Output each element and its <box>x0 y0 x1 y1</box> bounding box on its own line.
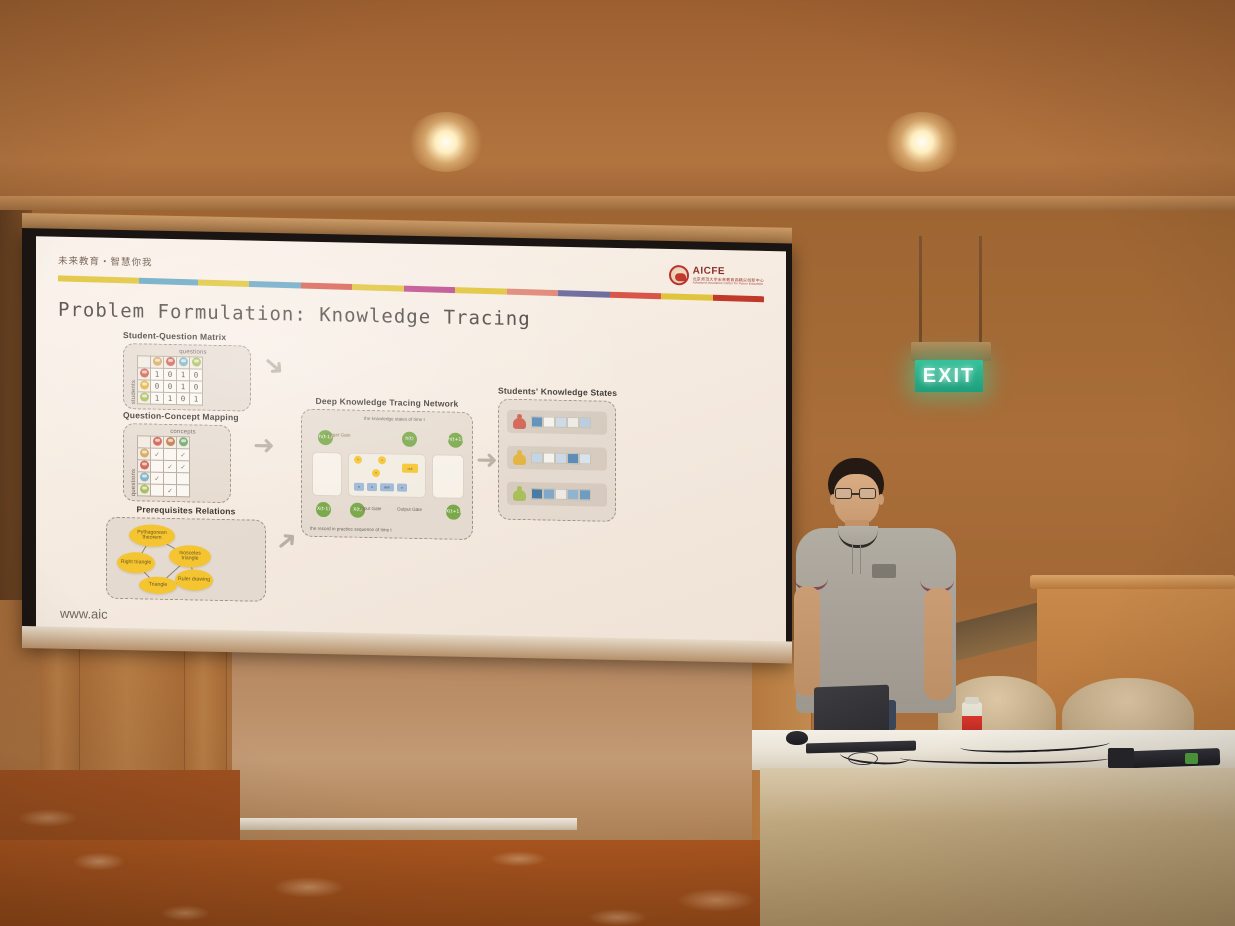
question-concept-mapping-table: ✓✓✓✓✓✓ <box>137 435 190 497</box>
presenter-glasses-bridge <box>851 493 860 495</box>
question-avatar-3-icon <box>192 357 201 366</box>
question-avatar-0-icon <box>153 356 162 365</box>
exit-rope-right <box>979 236 982 354</box>
table-row: 1010 <box>138 367 203 380</box>
knowledge-state-row-1 <box>507 446 607 471</box>
sq-cell-2-2: 0 <box>177 392 190 404</box>
concept-avatar-2 <box>177 436 190 448</box>
question-avatar-1-icon <box>166 356 175 365</box>
student-avatar-2 <box>138 391 151 403</box>
dkt-input-gate-node: + <box>378 456 386 464</box>
question-concept-mapping-panel: Question-Concept Mapping concepts questi… <box>123 410 239 503</box>
presenter-arm-right <box>924 588 952 700</box>
presenter-shirt-badge <box>872 564 896 578</box>
slide-watermark: www.aic <box>60 606 108 622</box>
color-strip-segment-1 <box>139 278 198 286</box>
logo-subtitle-en: Advanced Innovation Center for Future Ed… <box>693 281 764 285</box>
arrow-sq-to-network: ➜ <box>257 349 290 383</box>
color-strip-segment-5 <box>352 284 404 292</box>
sq-cell-0-1: 0 <box>164 368 177 380</box>
color-strip-segment-2 <box>198 279 250 287</box>
sq-cell-2-0: 1 <box>151 392 164 404</box>
qc-cell-3-1: ✓ <box>164 484 177 496</box>
arrow-network-to-states: ➜ <box>476 447 498 473</box>
qc-cell-0-2: ✓ <box>177 448 190 460</box>
qc-question-avatar-3-icon <box>140 484 149 493</box>
color-strip-segment-4 <box>301 283 353 291</box>
podium-top-surface <box>1030 575 1235 589</box>
slide-diagram: Student-Question Matrix questions studen… <box>58 329 764 623</box>
knowledge-cell-2-3 <box>567 489 579 500</box>
aicfe-logo-text: AICFE 北京师范大学未来教育高精尖创新中心 Advanced Innovat… <box>693 266 764 285</box>
prereq-node-1: Isosceles triangle <box>169 545 211 568</box>
dkt-output-gate-label: Output Gate <box>397 507 422 513</box>
question-concept-mapping-box: concepts questions ✓✓✓✓✓✓ <box>123 423 231 503</box>
corner-cell <box>138 355 151 367</box>
sq-cell-0-0: 1 <box>151 368 164 380</box>
color-strip-segment-11 <box>661 293 713 301</box>
avatar-body <box>513 418 526 429</box>
exit-sign-label: EXIT <box>923 365 975 388</box>
knowledge-cell-2-1 <box>543 488 555 499</box>
knowledge-cell-1-1 <box>543 452 555 463</box>
knowledge-cell-0-4 <box>579 417 591 428</box>
dkt-tanh-gate: × <box>372 469 380 477</box>
power-strip-indicator <box>1185 753 1198 764</box>
dkt-network-label: Deep Knowledge Tracing Network <box>301 396 473 409</box>
qc-question-avatar-1 <box>138 459 151 471</box>
knowledge-state-bar-1 <box>531 452 591 464</box>
exit-rope-left <box>919 236 922 354</box>
knowledge-cell-2-2 <box>555 489 567 500</box>
prereq-node-0: Pythagorean theorem <box>129 524 175 547</box>
qc-cell-0-1 <box>164 448 177 460</box>
slide-slogan: 未来教育・智慧你我 <box>58 253 153 269</box>
sq-cell-0-2: 1 <box>177 368 190 380</box>
color-strip-segment-12 <box>713 295 765 303</box>
concept-avatar-1 <box>164 436 177 448</box>
presenter-arm-left <box>794 586 820 696</box>
dkt-top-caption: the knowledge states of time t <box>364 416 425 422</box>
exit-sign: EXIT <box>915 360 983 392</box>
color-strip-segment-6 <box>404 286 456 294</box>
knowledge-states-box <box>498 399 616 522</box>
aicfe-logo: AICFE 北京师范大学未来教育高精尖创新中心 Advanced Innovat… <box>669 265 764 287</box>
cable-2 <box>900 752 1110 764</box>
ceiling-light-1 <box>408 112 484 172</box>
qc-cell-1-0 <box>151 460 164 472</box>
qc-question-avatar-2-icon <box>140 472 149 481</box>
presenter-placket <box>852 544 861 574</box>
student-question-matrix-table: 101000101101 <box>137 355 203 405</box>
concept-avatar-1-icon <box>166 436 175 445</box>
presenter-glasses-left <box>835 488 852 499</box>
knowledge-state-bar-2 <box>531 488 591 500</box>
qc-question-avatar-0-icon <box>140 448 149 457</box>
knowledge-state-row-0 <box>507 410 607 435</box>
question-avatar-1 <box>164 356 177 368</box>
ceiling <box>0 0 1235 215</box>
knowledge-state-row-2 <box>507 482 607 507</box>
color-strip-segment-10 <box>610 292 662 300</box>
knowledge-cell-0-0 <box>531 416 543 427</box>
question-avatar-3 <box>190 356 203 368</box>
knowledge-states-label: Students' Knowledge States <box>498 386 617 398</box>
dkt-network-box: the knowledge states of time t the recor… <box>301 409 473 540</box>
exit-mount-bracket <box>911 342 991 361</box>
dkt-unit-0: σ <box>354 483 364 491</box>
knowledge-cell-1-2 <box>555 453 567 464</box>
dkt-cell-left <box>312 452 342 497</box>
dkt-unit-3: σ <box>397 484 407 492</box>
color-strip-segment-3 <box>249 281 301 289</box>
dkt-output-gate-node: out <box>402 464 418 473</box>
dkt-input-node-0: X(t-1) <box>316 502 331 517</box>
dkt-cell-right <box>432 454 464 499</box>
knowledge-cell-1-0 <box>531 452 543 463</box>
student-avatar-icon-0 <box>513 414 526 429</box>
color-strip-segment-7 <box>455 287 507 295</box>
sq-cell-1-2: 1 <box>177 380 190 392</box>
prereq-node-2: Right triangle <box>117 552 155 574</box>
prerequisites-relations-box: Pythagorean theoremIsosceles triangleRig… <box>106 517 266 602</box>
qc-cell-1-2: ✓ <box>177 460 190 472</box>
qc-question-avatar-0 <box>138 447 151 459</box>
dkt-hidden-node-1: h(t) <box>402 432 417 447</box>
qc-question-avatar-3 <box>138 483 151 495</box>
table-skirt <box>760 768 1235 926</box>
student-avatar-icon-1 <box>513 450 526 465</box>
presentation-slide: 未来教育・智慧你我 AICFE 北京师范大学未来教育高精尖创新中心 Advanc… <box>36 236 786 651</box>
aicfe-logo-icon <box>669 265 689 285</box>
dkt-forget-gate: × <box>354 456 362 464</box>
qc-cell-0-0: ✓ <box>151 448 164 460</box>
prerequisites-relations-label: Prerequisites Relations <box>106 504 266 517</box>
dkt-network-panel: Deep Knowledge Tracing Network the knowl… <box>301 396 473 540</box>
arrow-prereq-to-network: ➜ <box>270 524 303 558</box>
knowledge-cell-2-0 <box>531 488 543 499</box>
dkt-forget-gate-label: Forget Gate <box>326 432 351 437</box>
qc-row-axis-label: questions <box>131 434 137 496</box>
knowledge-cell-2-4 <box>579 489 591 500</box>
dkt-hidden-node-2: h(t+1) <box>448 433 463 448</box>
qc-cell-3-0 <box>151 484 164 496</box>
knowledge-states-panel: Students' Knowledge States <box>498 386 617 522</box>
student-avatar-1 <box>138 379 151 391</box>
student-question-matrix-panel: Student-Question Matrix questions studen… <box>123 330 251 412</box>
color-strip-segment-8 <box>507 289 559 297</box>
concept-avatar-0-icon <box>153 436 162 445</box>
color-strip-segment-0 <box>58 275 139 283</box>
qc-cell-2-1 <box>164 472 177 484</box>
knowledge-cell-0-1 <box>543 416 555 427</box>
table-row: 0010 <box>138 379 203 392</box>
knowledge-cell-0-2 <box>555 417 567 428</box>
dkt-unit-1: σ <box>367 483 377 491</box>
slide-title: Problem Formulation: Knowledge Tracing <box>58 299 764 335</box>
sq-cell-1-3: 0 <box>190 380 203 392</box>
concept-avatar-2-icon <box>179 437 188 446</box>
table-row: ✓✓ <box>138 447 190 460</box>
arrow-qc-to-network: ➜ <box>253 433 275 459</box>
avatar-body <box>513 454 526 465</box>
color-strip-segment-9 <box>558 290 610 298</box>
prereq-node-4: Triangle <box>139 576 177 594</box>
power-adapter <box>1108 748 1134 768</box>
qc-cell-2-0: ✓ <box>151 472 164 484</box>
concept-avatar-0 <box>151 436 164 448</box>
knowledge-cell-1-4 <box>579 453 591 464</box>
table-row: ✓✓ <box>138 459 190 472</box>
computer-mouse <box>786 731 808 745</box>
question-avatar-2 <box>177 356 190 368</box>
prerequisites-relations-panel: Prerequisites Relations Pythagorean theo… <box>106 504 266 602</box>
knowledge-cell-0-3 <box>567 417 579 428</box>
presenter-glasses-right <box>859 488 876 499</box>
exit-sign-assembly: EXIT <box>905 236 1000 396</box>
question-avatar-2-icon <box>179 357 188 366</box>
prereq-node-3: Ruler drawing <box>175 569 213 591</box>
projection-screen-frame: 未来教育・智慧你我 AICFE 北京师范大学未来教育高精尖创新中心 Advanc… <box>22 228 792 661</box>
conference-room-scene: EXIT 未来教育・智慧你我 AICFE 北京师范大学未来教育高精尖创新中心 A… <box>0 0 1235 926</box>
water-bottle-cap <box>965 697 979 704</box>
qc-cell-2-2 <box>177 472 190 484</box>
qc-cell-3-2 <box>177 484 190 496</box>
wall-far-baseboard <box>232 818 577 830</box>
dkt-input-node-2: X(t+1) <box>446 505 461 520</box>
question-avatar-0 <box>151 356 164 368</box>
table-header-row <box>138 435 190 448</box>
table-row: ✓ <box>138 483 190 496</box>
knowledge-state-bar-0 <box>531 416 591 428</box>
sq-cell-1-1: 0 <box>164 380 177 392</box>
sq-row-axis-label: students <box>131 354 137 404</box>
presenter-face <box>834 474 879 526</box>
sq-cell-0-3: 0 <box>190 368 203 380</box>
knowledge-cell-1-3 <box>567 453 579 464</box>
dkt-input-gate-label: Input Gate <box>360 506 381 511</box>
qc-cell-1-1: ✓ <box>164 460 177 472</box>
table-row: ✓ <box>138 471 190 484</box>
ceiling-light-2 <box>884 112 960 172</box>
presenter-ear-right <box>878 494 884 505</box>
sq-cell-2-1: 1 <box>164 392 177 404</box>
student-avatar-0-icon <box>140 368 149 377</box>
sq-cell-2-3: 1 <box>190 392 203 404</box>
student-avatar-2-icon <box>140 392 149 401</box>
sq-cell-1-0: 0 <box>151 380 164 392</box>
student-avatar-icon-2 <box>513 486 526 501</box>
corner-cell <box>138 435 151 447</box>
student-avatar-0 <box>138 367 151 379</box>
question-concept-mapping-label: Question-Concept Mapping <box>123 410 239 422</box>
dkt-bottom-caption: the record in practice sequence of time … <box>310 526 392 533</box>
qc-question-avatar-2 <box>138 471 151 483</box>
cable-coil <box>848 752 878 765</box>
student-avatar-1-icon <box>140 380 149 389</box>
student-question-matrix-box: questions students 101000101101 <box>123 343 251 412</box>
dkt-unit-2: tanh <box>380 483 394 491</box>
qc-question-avatar-1-icon <box>140 460 149 469</box>
avatar-body <box>513 490 526 501</box>
wall-far-recess <box>232 640 752 840</box>
student-question-matrix-label: Student-Question Matrix <box>123 330 251 343</box>
table-row: 1101 <box>138 391 203 404</box>
projection-screen-surface: 未来教育・智慧你我 AICFE 北京师范大学未来教育高精尖创新中心 Advanc… <box>36 236 786 651</box>
